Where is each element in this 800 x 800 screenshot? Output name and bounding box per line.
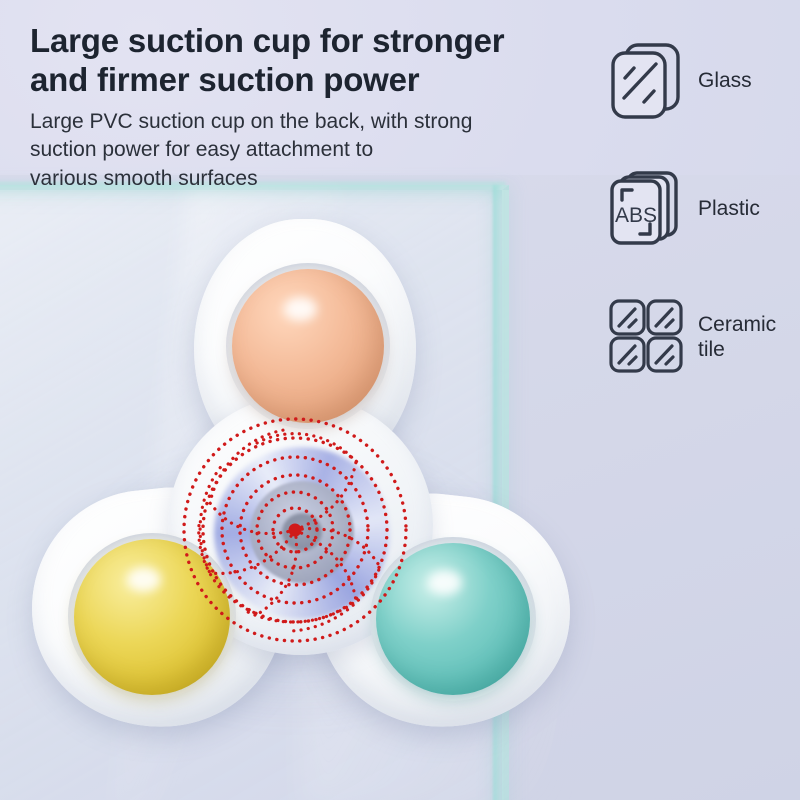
abs-cards-icon: ABS	[608, 168, 688, 250]
subcopy: Large PVC suction cup on the back, with …	[30, 108, 590, 194]
material-label-plastic: Plastic	[698, 196, 760, 221]
teal-ball	[376, 543, 530, 695]
product-feature-image: Large suction cup for stronger and firme…	[0, 0, 800, 800]
material-label-ceramic-tile: Ceramic tile	[698, 312, 798, 362]
material-item-glass: Glass	[608, 40, 798, 122]
svg-text:ABS: ABS	[615, 204, 657, 227]
tile-grid-icon	[608, 296, 688, 378]
compatible-materials-list: Glass ABS Plastic	[608, 40, 798, 424]
material-label-glass: Glass	[698, 68, 752, 93]
glass-panes-icon	[608, 40, 688, 122]
spinner-center-core	[282, 513, 322, 551]
material-item-plastic: ABS Plastic	[608, 168, 798, 250]
suction-cup-spinner-toy	[18, 215, 578, 745]
material-item-ceramic-tile: Ceramic tile	[608, 296, 798, 378]
feature-copy-block: Large suction cup for stronger and firme…	[30, 22, 590, 194]
peach-ball	[232, 269, 384, 423]
yellow-ball	[74, 539, 230, 695]
headline: Large suction cup for stronger and firme…	[30, 22, 590, 100]
